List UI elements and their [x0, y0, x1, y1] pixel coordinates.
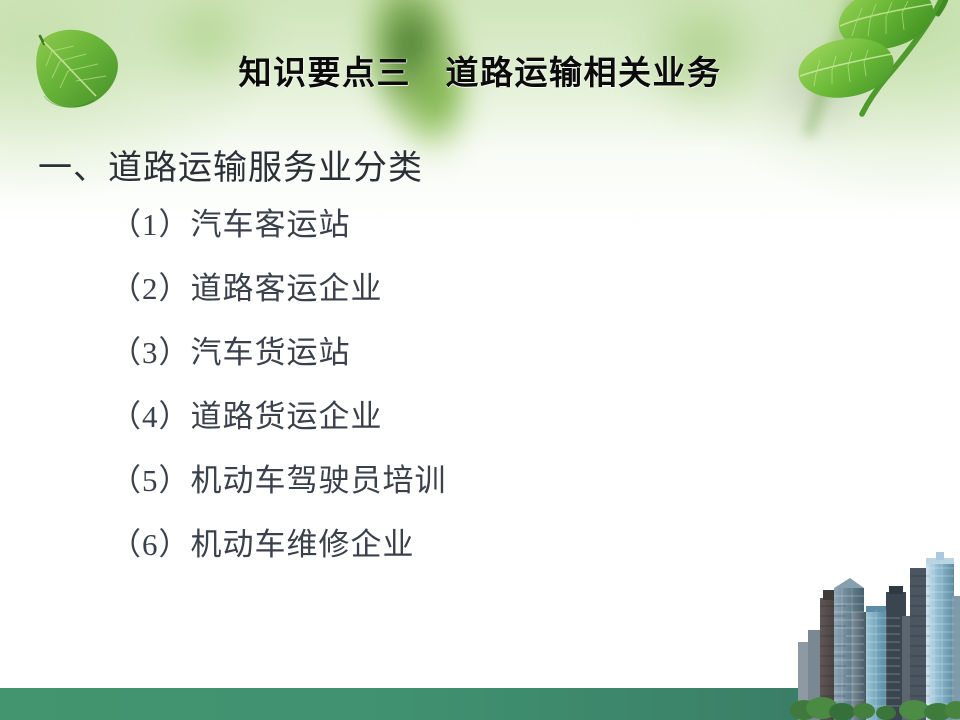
content-list: （1）汽车客运站 （2）道路客运企业 （3）汽车货运站 （4）道路货运企业 （5… — [110, 193, 730, 577]
list-item: （3）汽车货运站 — [110, 321, 730, 385]
list-item: （2）道路客运企业 — [110, 257, 730, 321]
list-item: （6）机动车维修企业 — [110, 513, 730, 577]
list-item: （5）机动车驾驶员培训 — [110, 449, 730, 513]
list-item: （1）汽车客运站 — [110, 193, 730, 257]
section-heading: 一、道路运输服务业分类 — [38, 140, 423, 189]
slide-title: 知识要点三 道路运输相关业务 — [0, 46, 960, 94]
cityscape-image — [790, 550, 960, 720]
slide-canvas: 知识要点三 道路运输相关业务 一、道路运输服务业分类 （1）汽车客运站 （2）道… — [0, 0, 960, 720]
list-item: （4）道路货运企业 — [110, 385, 730, 449]
